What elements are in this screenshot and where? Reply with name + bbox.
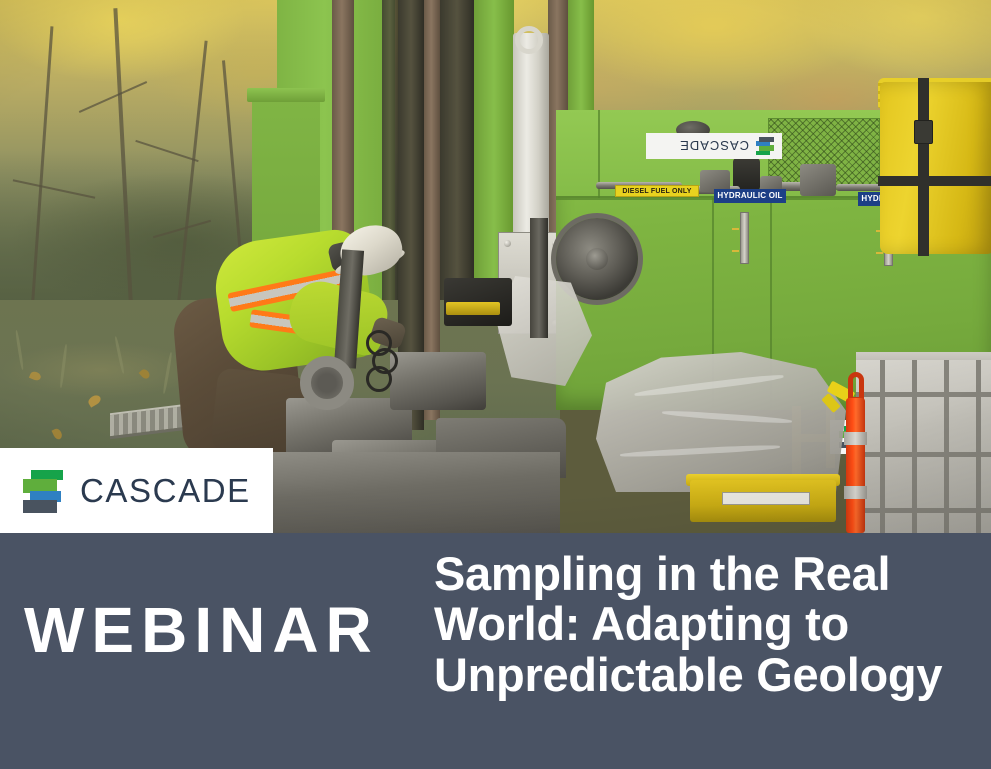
tote-cage-bar (856, 508, 991, 513)
hydraulic-valve (800, 164, 836, 196)
bolt-icon (504, 240, 511, 247)
toolbox-label (722, 492, 810, 505)
rig-decal-reversed: CASCADE (646, 133, 782, 159)
hydraulic-oil-label-left: HYDRAULIC OIL (714, 189, 786, 203)
strap-buckle (914, 120, 933, 144)
cascade-logo-card[interactable]: CASCADE (0, 448, 273, 533)
hydraulic-coil (366, 366, 392, 392)
diesel-fuel-label: DIESEL FUEL ONLY (615, 185, 699, 197)
tote-cage-bar (856, 452, 991, 457)
cascade-stacked-bars-logo (18, 466, 68, 516)
reflective-band (844, 432, 867, 445)
webinar-eyebrow: WEBINAR (24, 598, 379, 662)
logo-bar-slate (23, 500, 57, 513)
gauge-mark (876, 252, 883, 254)
lifting-eye-icon (515, 26, 543, 54)
yellow-marker-bar (446, 302, 500, 315)
reflective-band (844, 486, 867, 499)
rig-mast-column (440, 0, 474, 300)
drill-rod (530, 218, 548, 338)
ratchet-strap (918, 78, 929, 256)
cascade-mark-small (754, 136, 776, 156)
rig-mast-column (568, 0, 594, 118)
oil-sight-gauge (740, 212, 749, 264)
ratchet-strap (878, 176, 991, 186)
rig-mast-column (332, 0, 354, 258)
webinar-title: Sampling in the Real World: Adapting to … (434, 549, 974, 700)
drill-head-assembly (390, 352, 486, 410)
gauge-mark (732, 250, 739, 252)
cascade-wordmark: CASCADE (80, 472, 251, 510)
webinar-banner: DIESEL FUEL ONLY HYDRAULIC OIL HYDRAULIC… (0, 0, 991, 769)
drill-clamp-ring (300, 356, 354, 410)
flywheel-hub (586, 248, 608, 270)
rig-base-plate (270, 452, 560, 533)
tote-cage-bar (856, 392, 991, 397)
delineator-post (846, 398, 865, 533)
rig-decal-text: CASCADE (679, 139, 749, 154)
plastic-sheeting (596, 352, 846, 492)
yellow-container (880, 82, 991, 254)
rig-cabinet-lid (247, 88, 325, 102)
gauge-mark (732, 228, 739, 230)
